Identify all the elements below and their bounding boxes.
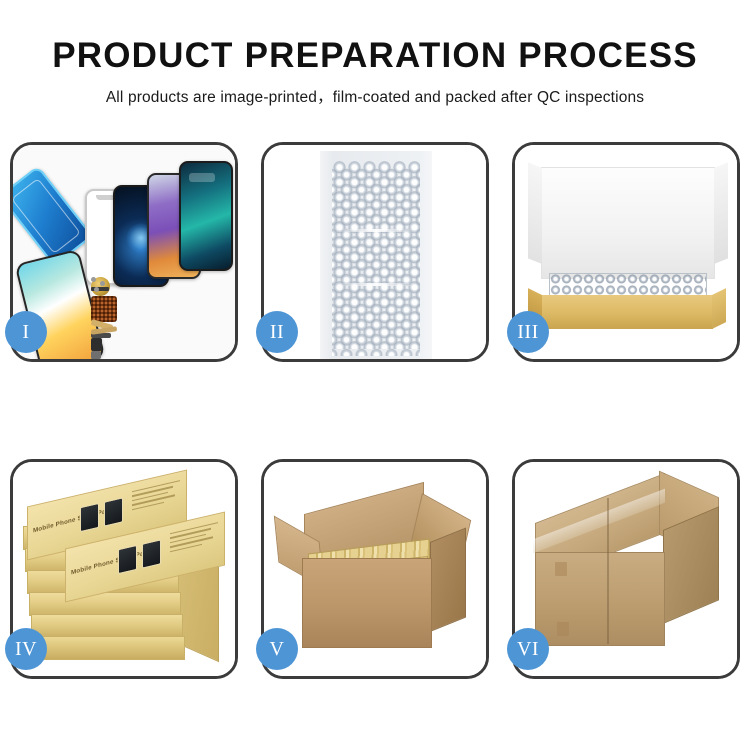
step-panel-5: V [261, 459, 489, 679]
retail-box-screen-image-1 [80, 503, 99, 532]
carton-tab-lower [557, 622, 569, 636]
stack-layer-5 [31, 614, 183, 638]
step-badge-2: II [256, 311, 298, 353]
step-badge-1: I [5, 311, 47, 353]
step-panel-4: Mobile Phone Spare Parts Mobile Phone Sp… [10, 459, 238, 679]
retail-box-screen-image-3 [118, 545, 137, 574]
phone-display-teal [179, 161, 233, 271]
step-badge-5: V [256, 628, 298, 670]
step-panel-2: II [261, 142, 489, 362]
carton-tab-upper [555, 562, 567, 576]
page-subtitle: All products are image-printed，film-coat… [0, 76, 750, 107]
product-preparation-process-page: PRODUCT PREPARATION PROCESS All products… [0, 0, 750, 750]
step-panel-6: VI [512, 459, 740, 679]
inner-box-lid [541, 167, 715, 279]
part-copper-grid [91, 296, 117, 322]
bubble-layer-back [332, 168, 420, 356]
retail-box-label: Mobile Phone Spare Parts [33, 506, 114, 534]
page-title: PRODUCT PREPARATION PROCESS [0, 0, 750, 76]
box-stack: Mobile Phone Spare Parts Mobile Phone Sp… [21, 484, 231, 664]
step-panel-1: I [10, 142, 238, 362]
carton-side-face [430, 527, 466, 632]
sealed-carton-seam [607, 498, 609, 644]
part-speaker [91, 351, 101, 359]
stack-layer-6 [33, 636, 185, 660]
screen-protector-film [13, 165, 93, 267]
part-camera-module [91, 338, 102, 351]
process-steps-grid: I II [10, 142, 740, 679]
retail-box-screen-image-2 [104, 497, 123, 526]
step-badge-6: VI [507, 628, 549, 670]
carton-front-face [302, 558, 432, 648]
step-badge-3: III [507, 311, 549, 353]
spare-parts-group [91, 277, 235, 359]
page-header: PRODUCT PREPARATION PROCESS All products… [0, 0, 750, 107]
retail-box-screen-image-4 [142, 539, 161, 568]
pouch-seam-lower [334, 283, 418, 286]
retail-box-spec-lines-2 [170, 522, 218, 555]
inner-box-tray [541, 295, 713, 329]
retail-box-spec-lines [132, 480, 180, 513]
stack-layer-4 [29, 592, 181, 616]
step-panel-3: III [512, 142, 740, 362]
bubble-wrap-pouch [320, 151, 432, 359]
step-badge-4: IV [5, 628, 47, 670]
retail-box-label-2: Mobile Phone Spare Parts [71, 548, 152, 576]
pouch-seam-upper [334, 229, 418, 232]
